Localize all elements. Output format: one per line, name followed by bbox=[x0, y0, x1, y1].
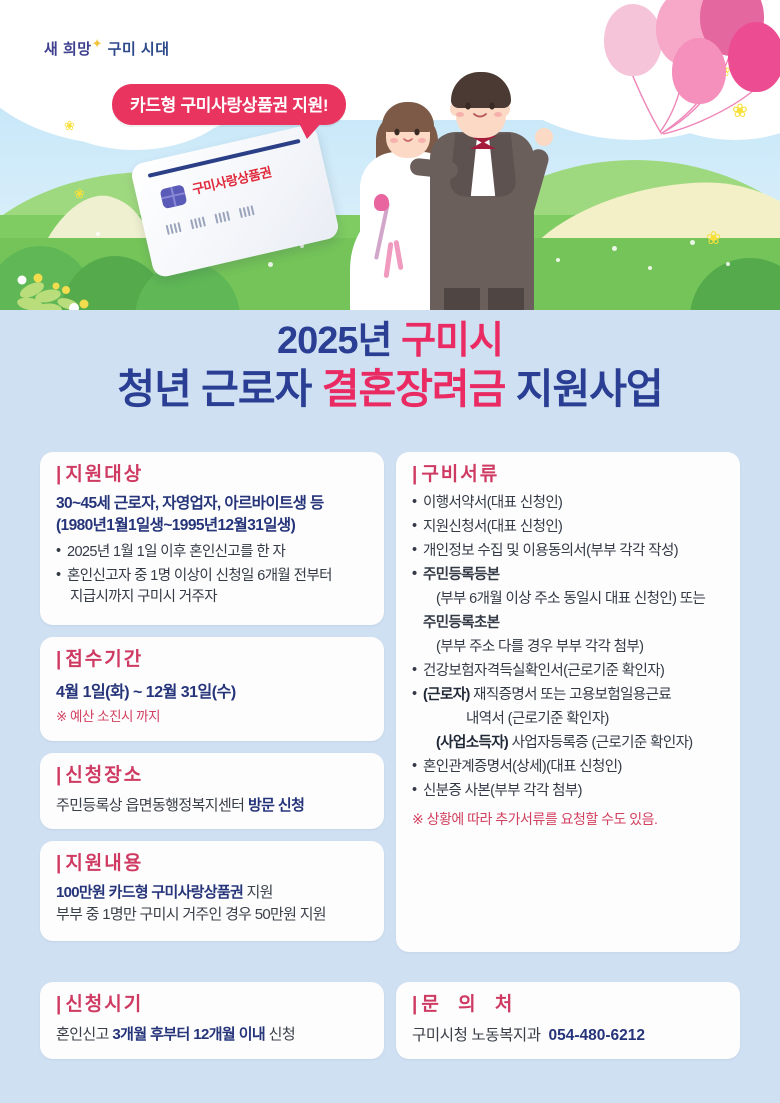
balloon-icon bbox=[728, 22, 780, 92]
list-item: 2025년 1월 1일 이후 혼인신고를 한 자 bbox=[56, 542, 368, 563]
list-item: 이행서약서(대표 신청인) bbox=[412, 493, 724, 514]
logo-text-part1: 새 희망 bbox=[44, 41, 92, 58]
section-heading-documents: |구비서류 bbox=[412, 465, 724, 486]
list-item: 주민등록초본 bbox=[412, 613, 724, 634]
hero-illustration: ❀ ❀ ❀ ❀ ❀ bbox=[0, 0, 780, 310]
bride-face-features bbox=[386, 126, 432, 148]
sparkle-dot bbox=[690, 240, 695, 245]
heading-bar: | bbox=[56, 464, 61, 485]
list-item-text: 재직증명서 또는 고용보험일용근료 bbox=[470, 687, 671, 703]
list-item: (사업소득자) 사업자등록증 (근로기준 확인자) bbox=[412, 733, 724, 754]
eligibility-lead: 30~45세 근로자, 자영업자, 아르바이트생 등 (1980년1월1일생~1… bbox=[56, 493, 368, 537]
documents-note: ※ 상황에 따라 추가서류를 요청할 수도 있음. bbox=[412, 810, 724, 830]
heading-text: 구비서류 bbox=[421, 464, 499, 485]
heading-text: 신청시기 bbox=[65, 994, 143, 1015]
leaf-spray-icon bbox=[12, 256, 112, 310]
list-item: 신분증 사본(부부 각각 첨부) bbox=[412, 781, 724, 802]
location-plain: 주민등록상 읍면동행정복지센터 bbox=[56, 797, 248, 814]
title-program: 결혼장려금 bbox=[322, 366, 506, 412]
groom-cheek bbox=[456, 112, 464, 117]
groom-leg bbox=[488, 288, 524, 310]
heading-bar: | bbox=[56, 853, 61, 874]
list-item: 내역서 (근로기준 확인자) bbox=[412, 709, 724, 730]
card-brand-label: 구미사랑상품권 bbox=[190, 161, 273, 198]
list-item: (부부 6개월 이상 주소 동일시 대표 신청인) 또는 bbox=[412, 589, 724, 610]
bottom-row: |신청시기 혼인신고 3개월 후부터 12개월 이내 신청 |문 의 처 구미시… bbox=[40, 982, 740, 1059]
timing-text: 혼인신고 3개월 후부터 12개월 이내 신청 bbox=[56, 1023, 368, 1044]
card-chip-icon bbox=[160, 184, 188, 209]
section-heading-location: |신청장소 bbox=[56, 766, 368, 787]
list-item: 혼인관계증명서(상세)(대표 신청인) bbox=[412, 757, 724, 778]
contact-phone: 054-480-6212 bbox=[548, 1027, 645, 1044]
list-item-continuation: 지급시까지 구미시 거주자 bbox=[67, 587, 368, 608]
card-number-marks bbox=[166, 191, 314, 234]
timing-accent: 3개월 후부터 12개월 이내 bbox=[112, 1026, 265, 1043]
left-column: |지원대상 30~45세 근로자, 자영업자, 아르바이트생 등 (1980년1… bbox=[40, 452, 384, 952]
list-item: 지원신청서(대표 신청인) bbox=[412, 517, 724, 538]
title-year: 2025년 bbox=[277, 320, 392, 362]
title-line-2: 청년 근로자 결혼장려금 지원사업 bbox=[0, 364, 780, 414]
section-eligibility: |지원대상 30~45세 근로자, 자영업자, 아르바이트생 등 (1980년1… bbox=[40, 452, 384, 625]
butterfly-icon: ❀ bbox=[706, 228, 721, 249]
documents-list: 이행서약서(대표 신청인) 지원신청서(대표 신청인) 개인정보 수집 및 이용… bbox=[412, 493, 724, 802]
support-amount: 100만원 카드형 구미사랑상품권 bbox=[56, 884, 243, 901]
sparkle-dot bbox=[726, 262, 730, 266]
heading-bar: | bbox=[56, 649, 61, 670]
heading-text: 지원대상 bbox=[65, 464, 143, 485]
period-dates: 4월 1일(화) ~ 12월 31일(수) bbox=[56, 678, 368, 702]
content-columns: |지원대상 30~45세 근로자, 자영업자, 아르바이트생 등 (1980년1… bbox=[40, 452, 740, 952]
section-heading-eligibility: |지원대상 bbox=[56, 465, 368, 486]
heading-text: 지원내용 bbox=[65, 853, 143, 874]
timing-suffix: 신청 bbox=[265, 1026, 295, 1043]
location-accent: 방문 신청 bbox=[248, 797, 304, 814]
heading-text: 신청장소 bbox=[65, 765, 143, 786]
poster-title: 2025년 구미시 청년 근로자 결혼장려금 지원사업 bbox=[0, 318, 780, 414]
list-item: 개인정보 수집 및 이용동의서(부부 각각 작성) bbox=[412, 541, 724, 562]
list-item: (근로자) 재직증명서 또는 고용보험일용근료 bbox=[412, 685, 724, 706]
location-text: 주민등록상 읍면동행정복지센터 방문 신청 bbox=[56, 794, 368, 815]
support-line-2: 부부 중 1명만 구미시 거주인 경우 50만원 지원 bbox=[56, 904, 368, 927]
section-contact: |문 의 처 구미시청 노동복지과 054-480-6212 bbox=[396, 982, 740, 1059]
promo-speech-bubble: 카드형 구미사랑상품권 지원! bbox=[112, 84, 346, 125]
title-target: 청년 근로자 bbox=[117, 366, 311, 412]
sparkle-dot bbox=[648, 266, 652, 270]
section-heading-contact: |문 의 처 bbox=[412, 995, 724, 1016]
title-city: 구미시 bbox=[401, 320, 503, 362]
title-line-1: 2025년 구미시 bbox=[0, 318, 780, 364]
list-item: 주민등록등본 bbox=[412, 565, 724, 586]
balloon-icon bbox=[604, 4, 662, 76]
contact-office: 구미시청 노동복지과 bbox=[412, 1027, 541, 1044]
section-heading-support: |지원내용 bbox=[56, 854, 368, 875]
section-timing: |신청시기 혼인신고 3개월 후부터 12개월 이내 신청 bbox=[40, 982, 384, 1059]
list-item: (부부 주소 다를 경우 부부 각각 첨부) bbox=[412, 637, 724, 658]
heading-bar: | bbox=[56, 994, 61, 1015]
groom-leg bbox=[444, 288, 480, 310]
wedding-couple-illustration bbox=[352, 52, 582, 310]
heading-bar: | bbox=[412, 994, 417, 1015]
sparkle-dot bbox=[612, 246, 617, 251]
period-note: ※ 예산 소진시 까지 bbox=[56, 708, 368, 727]
list-item-text: 혼인신고자 중 1명 이상이 신청일 6개월 전부터 bbox=[67, 568, 332, 584]
eligibility-lead-line2: (1980년1월1일생~1995년12월31일생) bbox=[56, 515, 368, 537]
balloons-group bbox=[560, 0, 780, 186]
section-support: |지원내용 100만원 카드형 구미사랑상품권 지원 부부 중 1명만 구미시 … bbox=[40, 841, 384, 941]
title-suffix: 지원사업 bbox=[516, 366, 663, 412]
groom-hand bbox=[535, 128, 553, 146]
butterfly-icon: ❀ bbox=[74, 186, 85, 202]
list-item: 혼인신고자 중 1명 이상이 신청일 6개월 전부터 지급시까지 구미시 거주자 bbox=[56, 566, 368, 608]
heading-text: 접수기간 bbox=[65, 649, 143, 670]
bouquet-flower bbox=[374, 194, 389, 211]
support-suffix: 지원 bbox=[243, 884, 273, 901]
heading-bar: | bbox=[56, 765, 61, 786]
heading-bar: | bbox=[412, 464, 417, 485]
section-period: |접수기간 4월 1일(화) ~ 12월 31일(수) ※ 예산 소진시 까지 bbox=[40, 637, 384, 741]
contact-text: 구미시청 노동복지과 054-480-6212 bbox=[412, 1023, 724, 1045]
section-heading-timing: |신청시기 bbox=[56, 995, 368, 1016]
butterfly-icon: ❀ bbox=[64, 118, 75, 134]
timing-prefix: 혼인신고 bbox=[56, 1026, 112, 1043]
section-location: |신청장소 주민등록상 읍면동행정복지센터 방문 신청 bbox=[40, 753, 384, 829]
section-documents: |구비서류 이행서약서(대표 신청인) 지원신청서(대표 신청인) 개인정보 수… bbox=[396, 452, 740, 952]
eligibility-lead-line1: 30~45세 근로자, 자영업자, 아르바이트생 등 bbox=[56, 493, 368, 515]
list-item-bold-prefix: (사업소득자) bbox=[436, 735, 508, 751]
heading-text: 문 의 처 bbox=[421, 994, 519, 1015]
groom-cheek bbox=[494, 112, 502, 117]
list-item: 건강보험자격득실확인서(근로기준 확인자) bbox=[412, 661, 724, 682]
logo-text-part2: 구미 시대 bbox=[108, 41, 170, 58]
eligibility-bullets: 2025년 1월 1일 이후 혼인신고를 한 자 혼인신고자 중 1명 이상이 … bbox=[56, 542, 368, 608]
poster-root: ❀ ❀ ❀ ❀ ❀ bbox=[0, 0, 780, 1103]
section-heading-period: |접수기간 bbox=[56, 650, 368, 671]
right-column: |구비서류 이행서약서(대표 신청인) 지원신청서(대표 신청인) 개인정보 수… bbox=[396, 452, 740, 952]
list-item-text: 사업자등록증 (근로기준 확인자) bbox=[508, 735, 692, 751]
star-icon: ✦ bbox=[92, 36, 103, 51]
sparkle-dot bbox=[268, 262, 273, 267]
list-item-bold-prefix: (근로자) bbox=[423, 687, 470, 703]
support-line-1: 100만원 카드형 구미사랑상품권 지원 bbox=[56, 882, 368, 905]
sparkle-dot bbox=[96, 232, 100, 236]
balloon-icon bbox=[672, 38, 726, 104]
city-brand-logo: 새 희망✦ 구미 시대 bbox=[44, 36, 170, 59]
